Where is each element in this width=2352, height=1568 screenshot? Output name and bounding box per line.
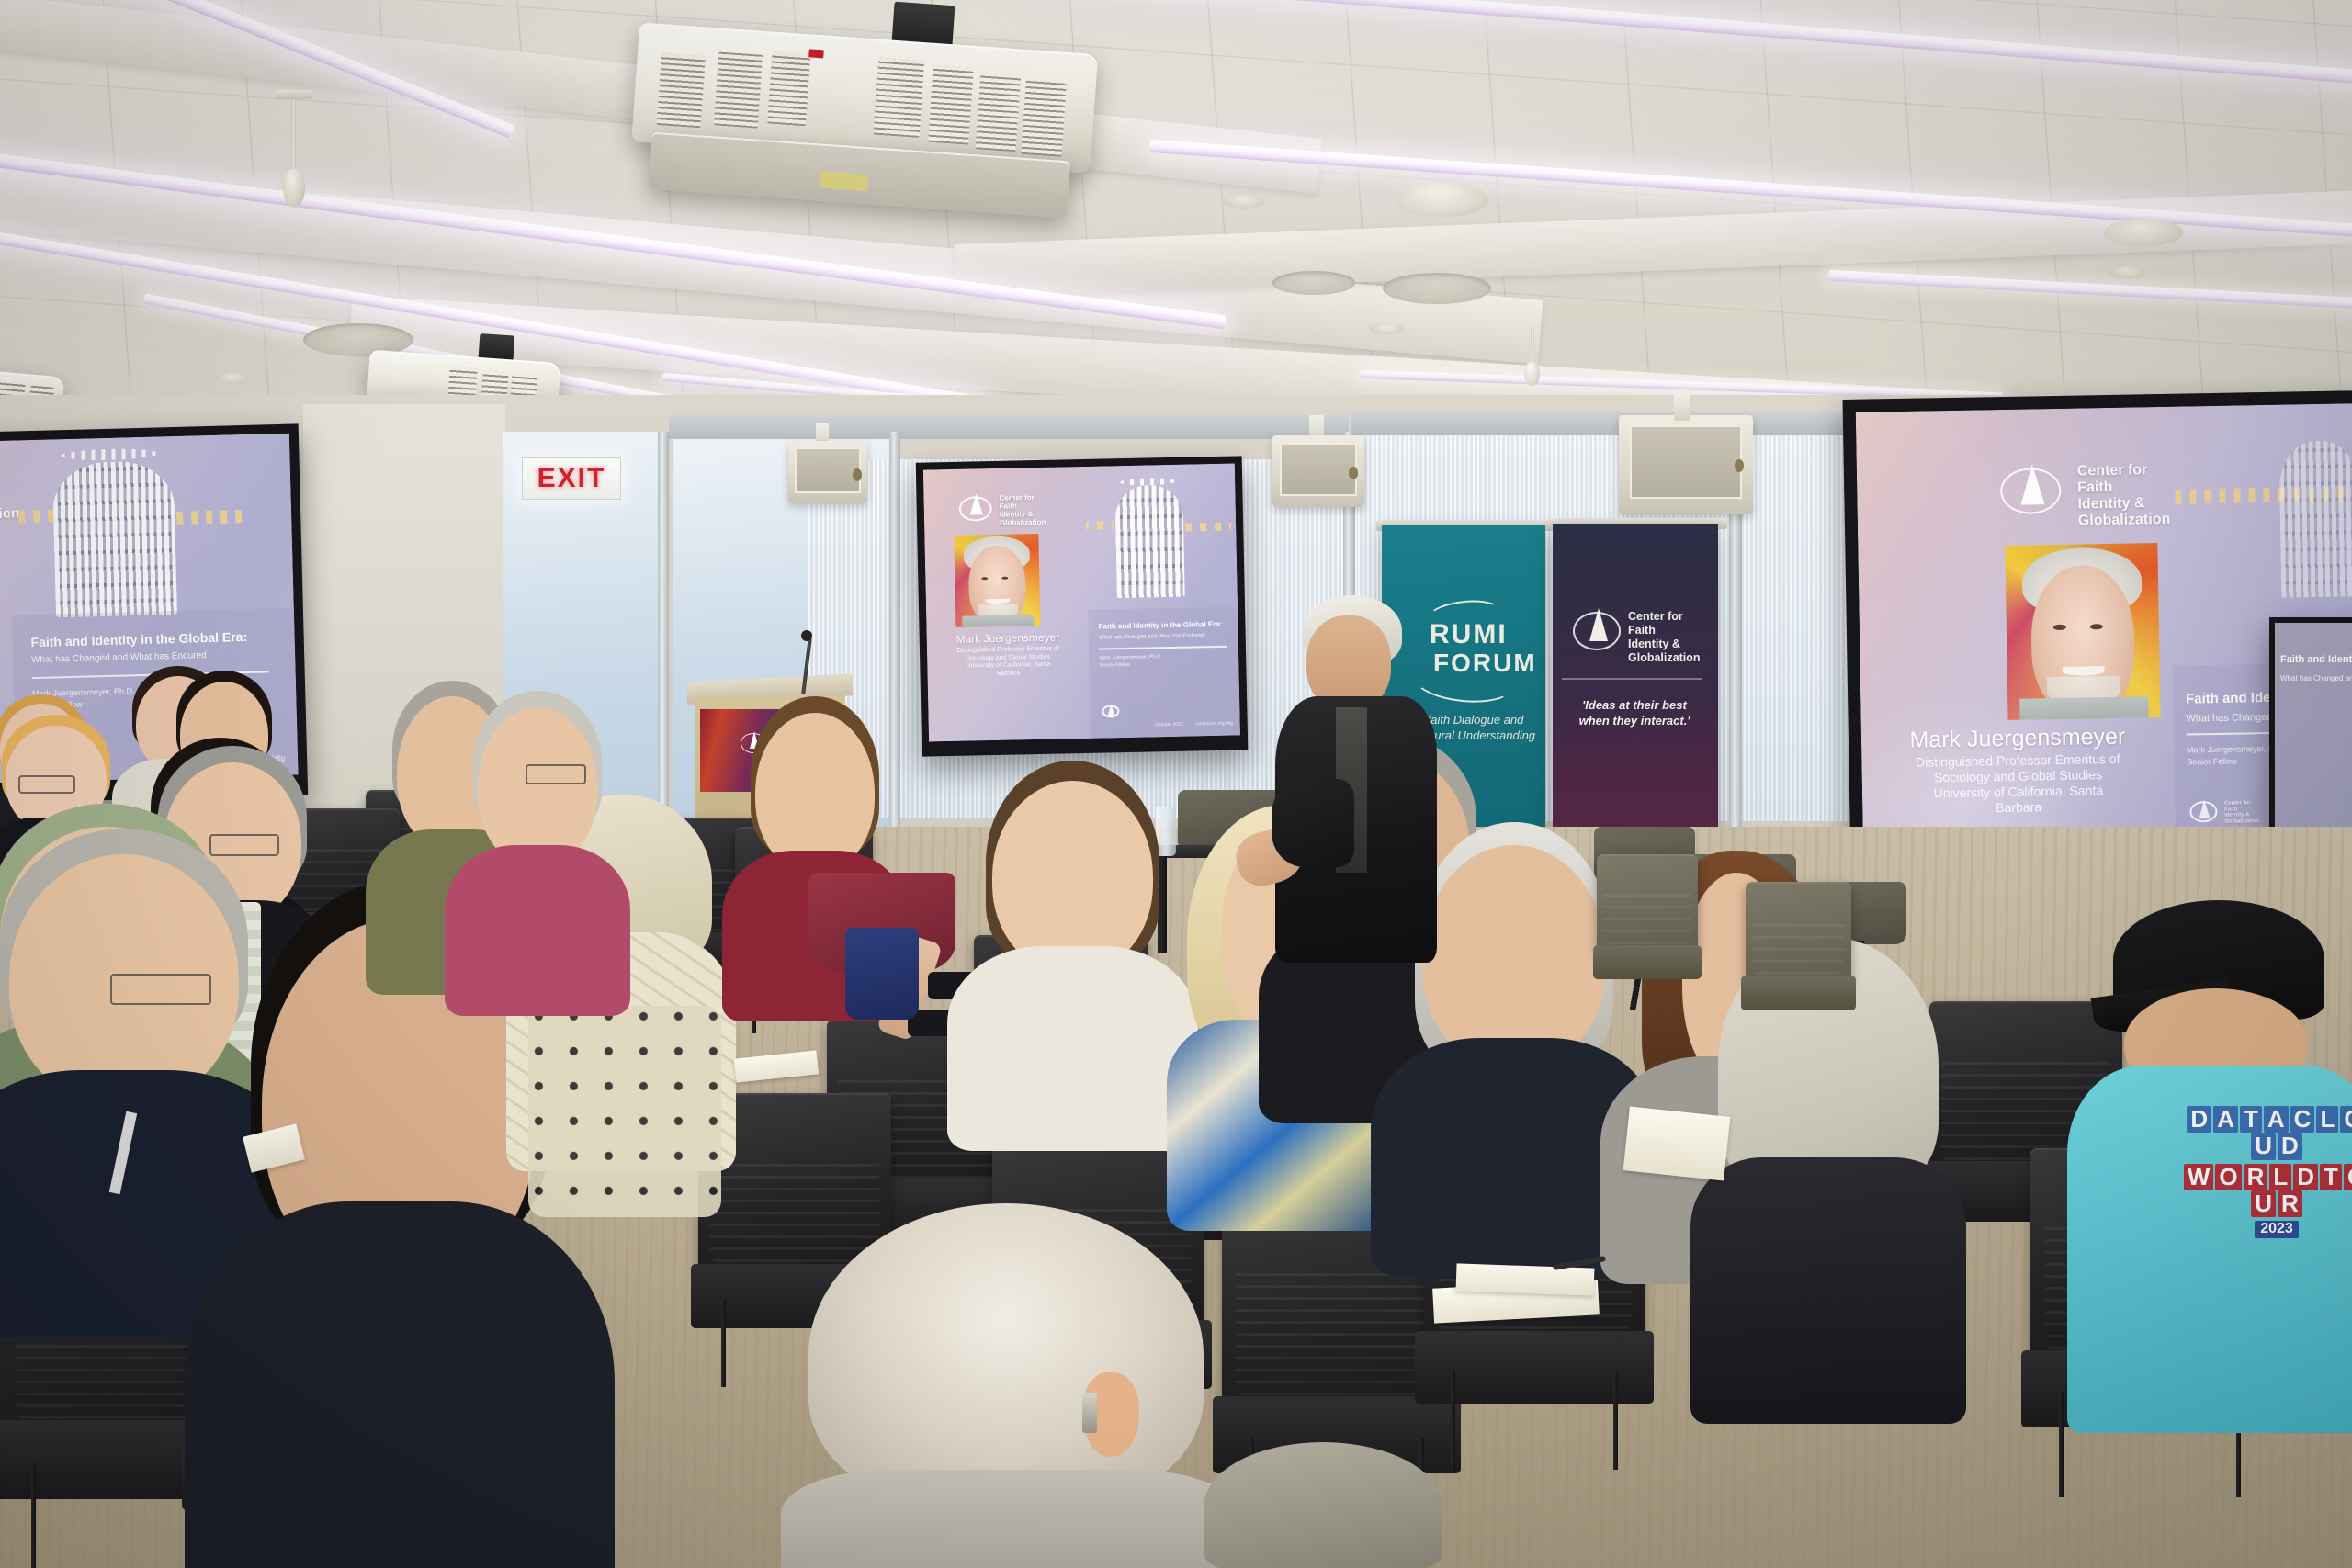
person-head <box>478 707 597 867</box>
chair-seat <box>1593 945 1702 979</box>
tshirt-letter: U <box>2251 1133 2276 1159</box>
tshirt-letter: O <box>2340 1106 2352 1133</box>
slide-org-name: Center for Faith Identity & Globalizatio… <box>999 494 1046 528</box>
flat-cap <box>1204 1442 1442 1568</box>
projector-vent-grille <box>976 72 1022 152</box>
projection-screen-far-right-surface: Faith and Identity in the Global Era: Wh… <box>2275 623 2352 851</box>
tshirt-letter: A <box>2264 1106 2289 1133</box>
slide-talk-subtitle-partial: What has Changed and What has Endured <box>2280 674 2352 682</box>
tshirt-letter: T <box>2240 1106 2262 1133</box>
projector-label <box>820 172 868 192</box>
slide-speaker-titles: Distinguished Professor Emeritus of Soci… <box>927 645 1090 680</box>
slide-presenter-role: Senior Fellow <box>1100 661 1162 670</box>
projector-vent-grille <box>657 53 706 128</box>
hanging-microphone-2 <box>1521 323 1544 384</box>
tshirt-letter: D <box>2293 1164 2318 1190</box>
speaker-arm <box>1272 779 1354 867</box>
projection-screen-center-surface: Center for Faith Identity & Globalizatio… <box>923 463 1240 741</box>
wall-speaker-3 <box>1619 415 1753 514</box>
tshirt-letter: A <box>2213 1106 2238 1133</box>
slide-arch-window-graphic <box>2278 440 2352 597</box>
tshirt-letter: W <box>2184 1164 2214 1190</box>
chair-leg <box>31 1463 36 1568</box>
slide-side-light-row-left <box>1085 521 1114 530</box>
handbag <box>845 928 919 1020</box>
door-mullion <box>658 432 669 836</box>
projector-vent-grille <box>1021 79 1067 157</box>
chair-back <box>1746 882 1851 985</box>
tshirt-letter: D <box>2187 1106 2211 1133</box>
slide-side-light-row-right <box>1185 523 1231 532</box>
slide-arch-window-graphic <box>1115 485 1186 599</box>
speaker-grille <box>795 447 861 493</box>
portrait-shirt <box>963 615 1035 627</box>
person-torso <box>185 1201 615 1568</box>
hearing-aid <box>1082 1393 1097 1433</box>
audience-member-seated <box>992 781 1153 1111</box>
wall-speaker-1 <box>1272 435 1364 507</box>
tshirt-letter: T <box>2320 1164 2342 1190</box>
cfig-banner-title-line-4: Globalization <box>1628 651 1700 665</box>
slide-arch-window-graphic <box>51 460 176 617</box>
portrait-shirt <box>2019 696 2148 719</box>
cfig-banner-divider <box>1562 678 1702 680</box>
tshirt-letter: L <box>2269 1164 2291 1190</box>
slide-org-line-4: Globalization <box>1000 519 1046 528</box>
portrait-mouth <box>2062 666 2105 675</box>
eyeglasses <box>18 775 75 794</box>
cfig-banner-quote-line-1: 'Ideas at their best <box>1562 698 1707 714</box>
chair[interactable] <box>1746 882 1851 1043</box>
tshirt-letter: U <box>2251 1190 2276 1217</box>
cfig-logo-triangle-icon <box>969 493 982 514</box>
papers-on-table <box>1456 1263 1595 1295</box>
lecture-hall-photo: EXIT Center for <box>0 0 2352 1568</box>
speaker-knob <box>853 468 862 481</box>
smoke-detector-3 <box>2109 266 2145 278</box>
chair-leg <box>721 1299 726 1387</box>
tshirt-letter: O <box>2215 1164 2241 1190</box>
slide-speaker-name: Mark Juergensmeyer <box>927 630 1090 647</box>
slide-side-light-row-right <box>176 510 248 525</box>
tshirt-letter: L <box>2316 1106 2338 1133</box>
speaker-grille <box>1630 425 1743 499</box>
projection-screen-far-right-frame: Faith and Identity in the Global Era: Wh… <box>2269 617 2352 856</box>
wall-speaker-2 <box>788 441 867 503</box>
audience-member-seated <box>1422 845 1606 1231</box>
person-torso-pattern <box>528 1006 721 1217</box>
cfig-logo-triangle-icon <box>1589 608 1608 641</box>
cfig-logo-triangle-icon-small <box>2199 799 2210 818</box>
slide-talk-title: Faith and Identity in the Global Era: <box>1099 620 1223 631</box>
cfig-banner-title-line-1: Center for <box>1628 610 1700 624</box>
speaker-portrait-photo <box>954 534 1040 627</box>
tshirt-graphic: DATACLOUD WORLDTOUR 2023 <box>2176 1117 2352 1227</box>
tshirt-letter: R <box>2244 1164 2268 1190</box>
slide-footer-url: rumiforum.org/cfig <box>1195 721 1232 728</box>
cfig-banner-title: Center for Faith Identity & Globalizatio… <box>1628 610 1700 665</box>
person-head <box>755 713 875 873</box>
cfig-logo-triangle-icon-small <box>1108 704 1115 716</box>
water-bottle <box>1156 807 1176 856</box>
projector-vent-grille <box>928 65 974 145</box>
tshirt-line-2: WORLDTOUR <box>2176 1164 2352 1218</box>
exit-sign: EXIT <box>522 457 621 500</box>
audience-member-foreground <box>1204 1442 1442 1568</box>
slide-center-copy: Center for Faith Identity & Globalizatio… <box>923 463 1240 741</box>
speaker-bracket-3 <box>1674 393 1690 421</box>
microphone-capsule <box>283 169 305 208</box>
cfig-banner-title-line-2: Faith <box>1628 624 1700 637</box>
chair[interactable] <box>1597 854 1698 1010</box>
person-hair <box>808 1203 1204 1506</box>
tshirt-letter: C <box>2290 1106 2315 1133</box>
tshirt-line-1: DATACLOUD <box>2176 1106 2352 1160</box>
cfig-banner-title-line-3: Identity & <box>1628 637 1700 651</box>
speaker-knob <box>1735 459 1744 472</box>
person-torso <box>947 946 1198 1151</box>
slide-footer-date: October 2023 <box>1155 722 1182 728</box>
slide-org-line-2: Faith <box>2077 479 2170 497</box>
ceiling-air-vent-3 <box>1272 271 1355 295</box>
hanging-microphone <box>276 90 312 209</box>
speaker-grille <box>1280 443 1357 496</box>
smoke-detector-4 <box>1222 195 1264 209</box>
slide-org-line-3: Identity & <box>2077 495 2170 513</box>
slide-speaker-titles: Distinguished Professor Emeritus of Soci… <box>1861 750 2175 818</box>
person-torso <box>445 845 631 1016</box>
slide-org-line-1: Center for <box>2077 462 2170 480</box>
chair-leg <box>1613 1371 1618 1470</box>
smoke-detector-2 <box>1369 323 1404 334</box>
projector-status-led <box>808 49 824 58</box>
microphone-ceiling-plate <box>276 90 312 99</box>
slide-talk-subtitle: What has Changed and What has Endured <box>1099 633 1204 640</box>
rumi-wordmark-line-1: RUMI <box>1430 621 1508 649</box>
chair-back <box>1597 854 1698 954</box>
notebook <box>1623 1106 1731 1180</box>
projector-vent-grille <box>714 51 763 128</box>
speaker-portrait-photo <box>2005 543 2160 720</box>
tshirt-letter: O <box>2344 1164 2352 1190</box>
audience-member-seated <box>478 707 597 983</box>
slide-presenter-name: Mark Juergensmeyer, Ph.D. <box>1099 654 1161 662</box>
slide-org-line-4: Globalization <box>2078 512 2171 530</box>
window-mullion-1 <box>889 432 900 836</box>
chair-leg <box>2059 1393 2064 1497</box>
smoke-detector-1 <box>217 373 248 384</box>
slide-org-name: Center for Faith Identity & Globalizatio… <box>2077 462 2171 529</box>
cfig-logo-triangle-icon <box>2020 464 2045 504</box>
person-torso <box>1690 1157 1966 1424</box>
ceiling-speaker-dome <box>1396 182 1488 217</box>
window-head-trim <box>669 415 1349 439</box>
ceiling-projector-main <box>628 0 1109 234</box>
exit-sign-label: EXIT <box>537 463 606 494</box>
tshirt-letter: R <box>2278 1190 2302 1217</box>
microphone-capsule <box>1524 362 1540 386</box>
slide-title-band: Faith and Identity in the Global Era: Wh… <box>1088 606 1240 738</box>
slide-talk-title-partial: Faith and Identity in the Global Era: <box>2280 654 2352 665</box>
microphone-stem <box>291 97 296 175</box>
tshirt-letter: D <box>2278 1133 2302 1159</box>
podium-microphone-head <box>801 630 812 641</box>
microphone-stem <box>1531 327 1534 366</box>
person-head <box>1422 845 1606 1069</box>
slide-talk-title: Faith and Identity in the Global Era: <box>30 629 247 649</box>
slide-speaker-name: Mark Juergensmeyer <box>1861 723 2174 755</box>
ceiling-speaker-dome-2 <box>2104 219 2183 246</box>
slide-arch-top-detail <box>61 447 158 461</box>
cfig-banner-quote-line-2: when they interact.' <box>1562 714 1707 729</box>
person-torso <box>781 1470 1240 1568</box>
audience-member-foreground <box>808 1203 1204 1568</box>
slide-talk-subtitle: What has Changed and What has Endured <box>31 650 207 665</box>
chair-seat <box>1741 976 1855 1011</box>
slide-side-light-row-left <box>7 509 53 523</box>
slide-divider-rule <box>1099 646 1227 649</box>
ceiling-air-vent-2 <box>1383 273 1491 304</box>
slide-footer-org-line-4: Globalization <box>2224 818 2259 825</box>
slide-footer-org-name: Center for Faith Identity & Globalizatio… <box>2224 800 2259 826</box>
presenter-speaker <box>1266 595 1441 990</box>
projector-vent-grille <box>873 58 924 138</box>
slide-presenter-block: Mark Juergensmeyer, Ph.D. Senior Fellow <box>1099 654 1161 670</box>
cfig-banner-quote: 'Ideas at their best when they interact.… <box>1562 698 1707 728</box>
eyeglasses <box>526 764 586 784</box>
audience-member-foreground <box>9 854 239 1286</box>
chair-leg <box>1451 1371 1455 1470</box>
tshirt-year: 2023 <box>2255 1221 2299 1238</box>
eyeglasses <box>110 974 211 1005</box>
eyeglasses <box>209 834 279 856</box>
projection-screen-center-frame: Center for Faith Identity & Globalizatio… <box>916 456 1249 756</box>
projector-vent-grille <box>767 52 810 127</box>
person-head <box>992 781 1153 973</box>
